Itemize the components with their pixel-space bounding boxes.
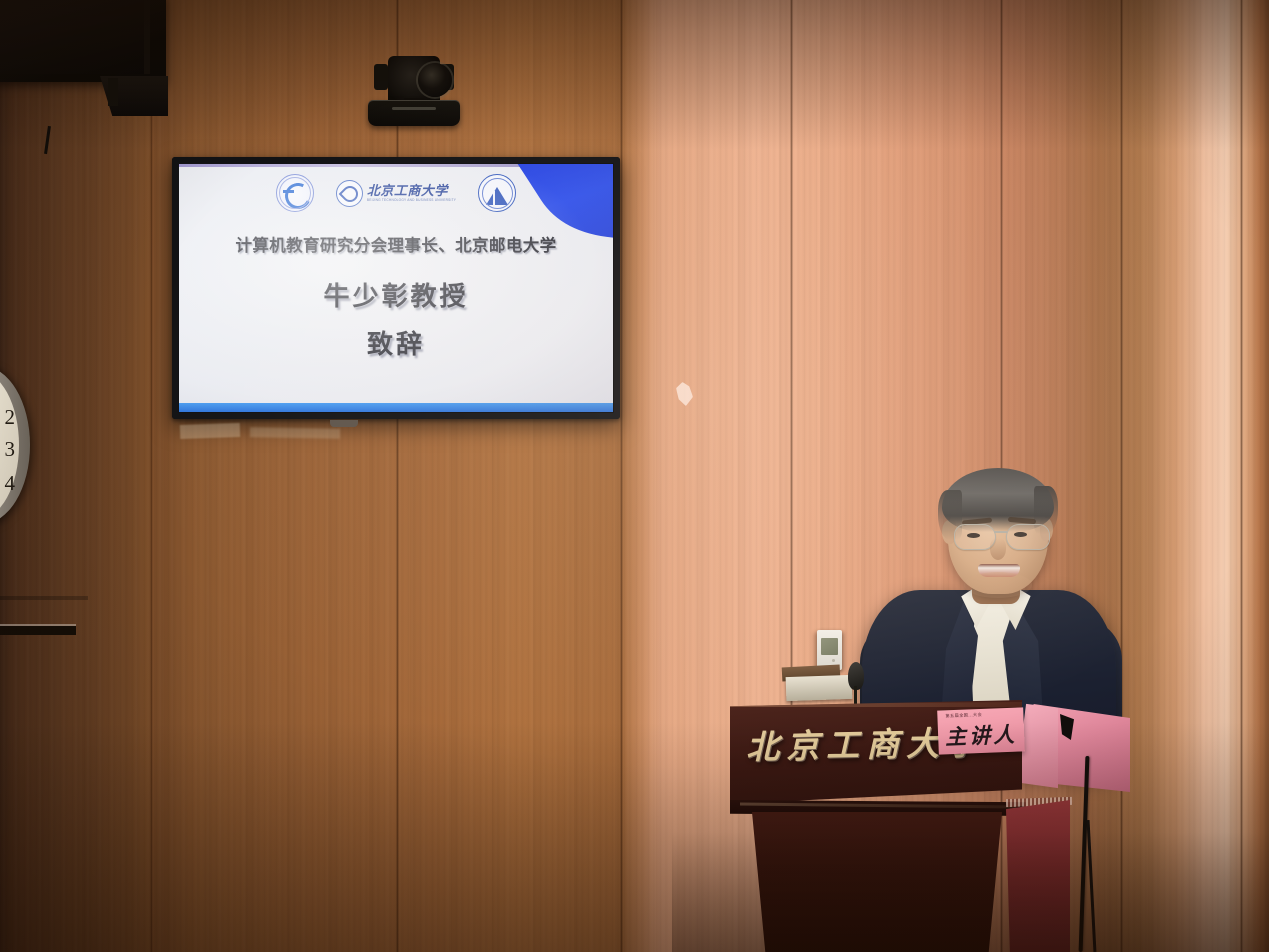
lectern-side-panel [1006,800,1070,952]
btbu-name-en: BEIJING TECHNOLOGY AND BUSINESS UNIVERSI… [367,199,456,203]
control-panel-display [821,638,838,655]
logo-ring [482,178,513,209]
wall-tape-residue-2 [250,427,340,439]
baseboard-slot [0,626,76,635]
photo-scene: 2 3 4 北京 [0,0,1269,952]
ptz-camera [368,56,460,136]
btbu-name-cn: 北京工商大学 [367,184,456,197]
microphone-stem [854,686,857,706]
lectern-base [744,812,1010,952]
speaker-grille [0,0,150,74]
wall-panel-seam [620,0,623,952]
slide-screen: 北京工商大学 BEIJING TECHNOLOGY AND BUSINESS U… [179,164,613,412]
slide-logo-row: 北京工商大学 BEIJING TECHNOLOGY AND BUSINESS U… [179,173,613,213]
clock-numeral-4: 4 [5,471,16,496]
wall-ledge [0,596,88,600]
display-mount [330,420,358,427]
wall-speaker [0,0,166,82]
slide-line-3-action: 致辞 [179,324,613,361]
sign-event-subtitle: 第五届全国...大会 [945,712,982,719]
wall-panel-seam [396,0,399,952]
wall-panel-seam [150,0,153,952]
slide-line-2-speaker-name: 牛少彰教授 [179,276,613,313]
logo-ring [279,177,311,209]
slide-line-1: 计算机教育研究分会理事长、北京邮电大学 [179,232,613,256]
slide-bottom-bar [179,403,613,412]
speaker-bracket-arm [108,78,118,106]
camera-base [368,100,460,126]
wall-tape-residue [180,423,240,439]
clock-numeral-3: 3 [5,437,16,462]
lectern-top-highlight [730,702,1022,707]
nose [990,538,1006,560]
btbu-emblem-icon [336,180,363,207]
control-panel-button[interactable] [832,659,835,662]
wall-panel-seam [1240,0,1243,952]
chin [964,572,1032,598]
btbu-logo: 北京工商大学 BEIJING TECHNOLOGY AND BUSINESS U… [336,180,456,207]
lectern: 北京工商大学 [730,700,1140,952]
btbu-wordmark: 北京工商大学 BEIJING TECHNOLOGY AND BUSINESS U… [367,184,456,202]
camera-lens-icon [418,63,452,97]
wall-mounted-display[interactable]: 北京工商大学 BEIJING TECHNOLOGY AND BUSINESS U… [172,157,620,419]
glasses-bridge [994,531,1007,533]
sign-role-text: 主讲人 [938,718,1025,751]
gooseneck-microphone [848,662,864,702]
bupt-logo [478,174,516,212]
clock-numeral-2: 2 [5,405,16,430]
lectern-papers [786,675,853,701]
computer-education-association-logo [276,174,314,212]
power-cable-lower [1087,820,1097,952]
camera-side-left [374,64,388,90]
wall-clock: 2 3 4 [0,366,30,524]
speaker-name-sign: 第五届全国...大会 主讲人 [937,707,1025,754]
lens-right [1006,524,1050,550]
